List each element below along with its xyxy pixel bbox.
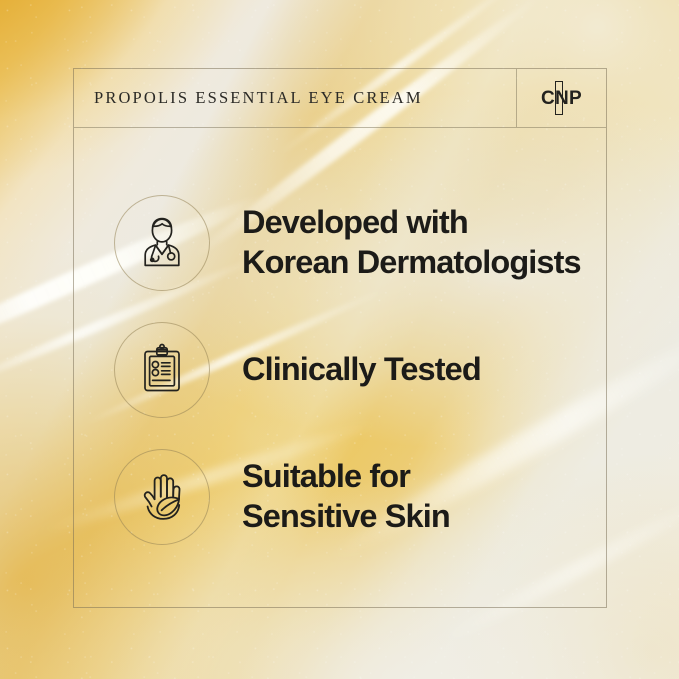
feature-list: Developed with Korean Dermatologists	[74, 179, 606, 560]
feature-item-suitable-for-sensitive-skin: Suitable for Sensitive Skin	[74, 433, 606, 560]
page-title: PROPOLIS ESSENTIAL EYE CREAM	[94, 88, 423, 108]
product-feature-poster: PROPOLIS ESSENTIAL EYE CREAM CNP	[0, 0, 679, 679]
feature-item-clinically-tested: Clinically Tested	[74, 306, 606, 433]
feature-label: Suitable for Sensitive Skin	[242, 457, 450, 537]
brand-logo-cell: CNP	[516, 69, 606, 127]
clipboard-checklist-icon	[114, 322, 210, 418]
feature-label: Developed with Korean Dermatologists	[242, 203, 581, 283]
doctor-stethoscope-icon	[114, 195, 210, 291]
content-frame: PROPOLIS ESSENTIAL EYE CREAM CNP	[73, 68, 607, 608]
hand-leaf-icon	[114, 449, 210, 545]
logo-vertical-bar-icon	[555, 81, 563, 115]
cnp-logo: CNP	[541, 89, 582, 108]
feature-item-developed-with-dermatologists: Developed with Korean Dermatologists	[74, 179, 606, 306]
header-bar: PROPOLIS ESSENTIAL EYE CREAM CNP	[74, 69, 606, 128]
header-title-cell: PROPOLIS ESSENTIAL EYE CREAM	[74, 69, 516, 127]
feature-label: Clinically Tested	[242, 350, 481, 390]
